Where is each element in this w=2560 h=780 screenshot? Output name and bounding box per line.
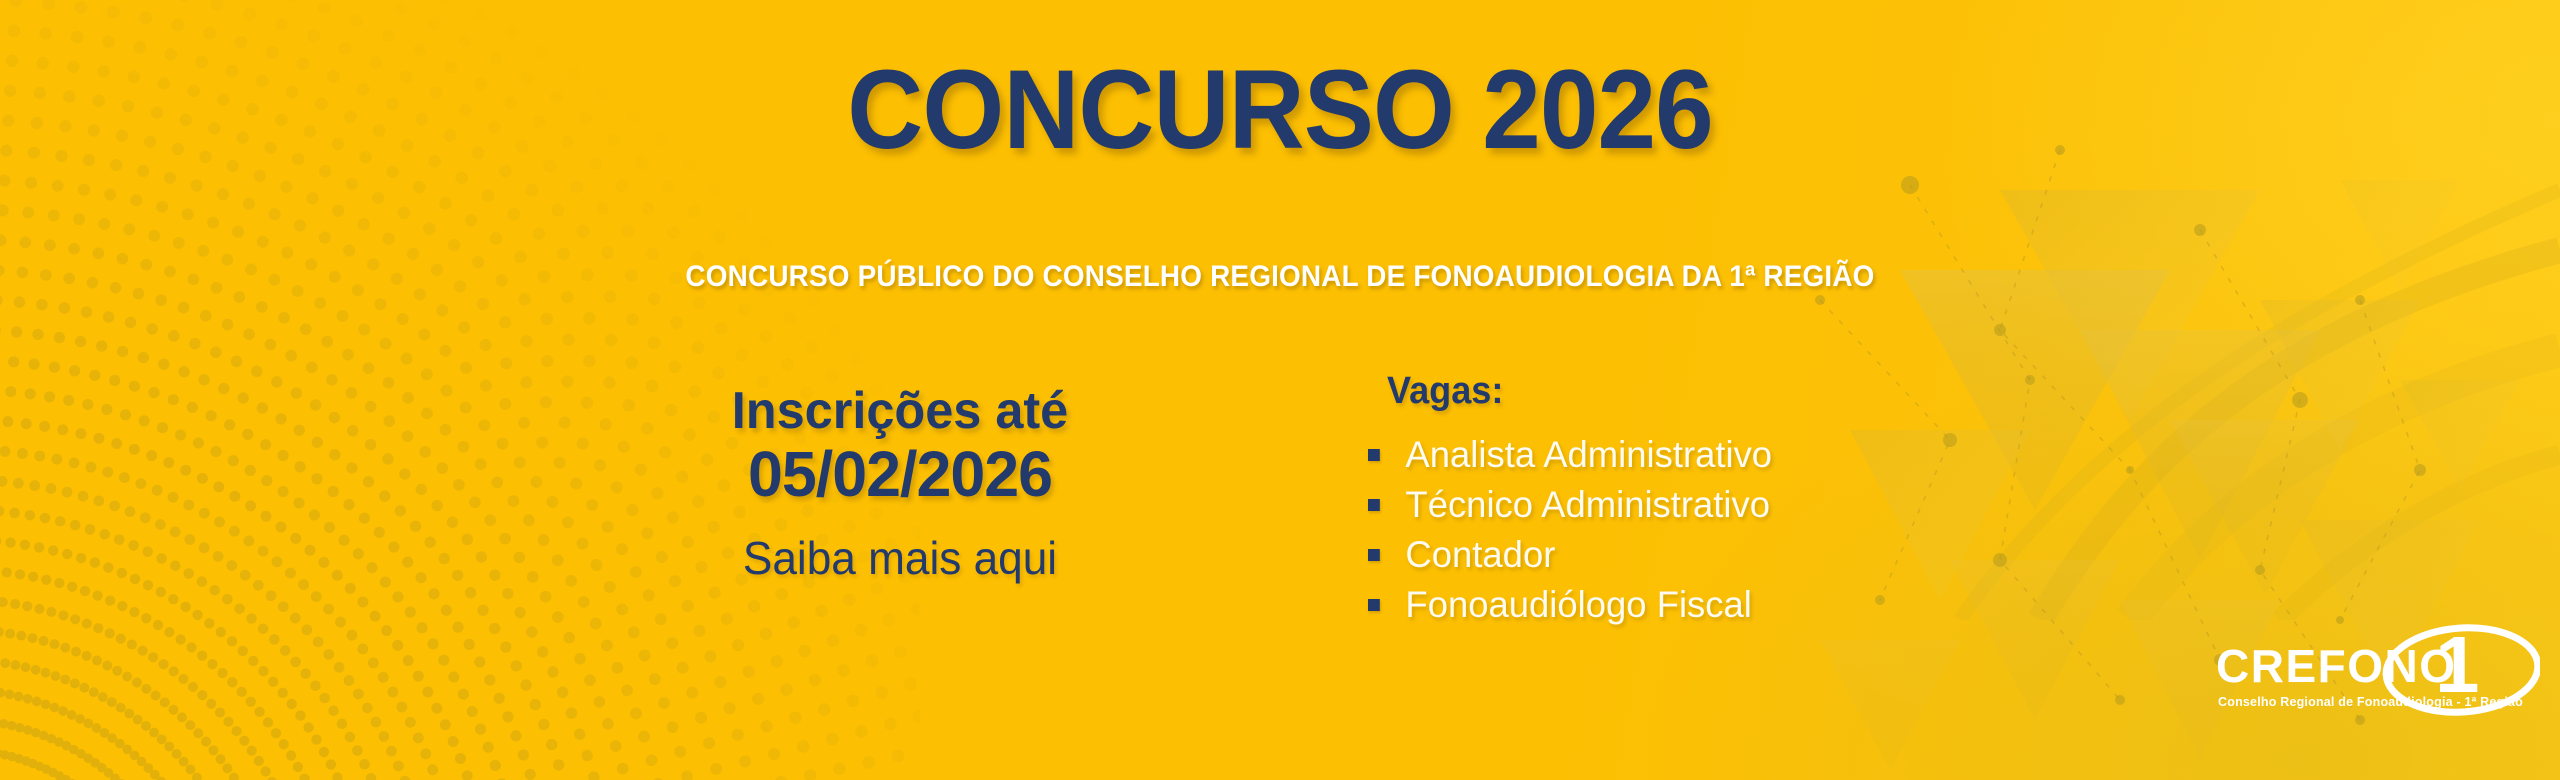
page-subtitle: CONCURSO PÚBLICO DO CONSELHO REGIONAL DE…: [90, 262, 2471, 292]
square-bullet-icon: [1368, 499, 1380, 511]
vacancy-label: Analista Administrativo: [1405, 436, 1772, 473]
list-item: Analista Administrativo: [1368, 436, 2117, 473]
vacancy-label: Fonoaudiólogo Fiscal: [1405, 586, 1751, 623]
vacancies-title: Vagas:: [1387, 372, 2109, 410]
list-item: Fonoaudiólogo Fiscal: [1368, 586, 2117, 623]
list-item: Contador: [1368, 536, 2117, 573]
square-bullet-icon: [1368, 449, 1380, 461]
logo-wordmark: CREFONO: [2216, 640, 2457, 692]
vacancies-list: Analista Administrativo Técnico Administ…: [1368, 436, 2128, 623]
list-item: Técnico Administrativo: [1368, 486, 2117, 523]
registration-label: Inscrições até: [648, 384, 1152, 439]
registration-deadline: 05/02/2026: [645, 439, 1155, 511]
square-bullet-icon: [1368, 549, 1380, 561]
vacancy-label: Contador: [1405, 536, 1555, 573]
registration-block: Inscrições até 05/02/2026 Saiba mais aqu…: [640, 384, 1160, 583]
concurso-banner: CONCURSO 2026 CONCURSO PÚBLICO DO CONSEL…: [0, 0, 2560, 780]
logo-tagline: Conselho Regional de Fonoaudiologia - 1ª…: [2218, 695, 2523, 709]
crefono-logo: CREFONO 1 Conselho Regional de Fonoaudio…: [2210, 616, 2540, 736]
saiba-mais-link[interactable]: Saiba mais aqui: [650, 533, 1149, 584]
vacancy-label: Técnico Administrativo: [1405, 486, 1770, 523]
page-title: CONCURSO 2026: [77, 54, 2483, 166]
vacancies-block: Vagas: Analista Administrativo Técnico A…: [1368, 372, 2128, 636]
square-bullet-icon: [1368, 599, 1380, 611]
